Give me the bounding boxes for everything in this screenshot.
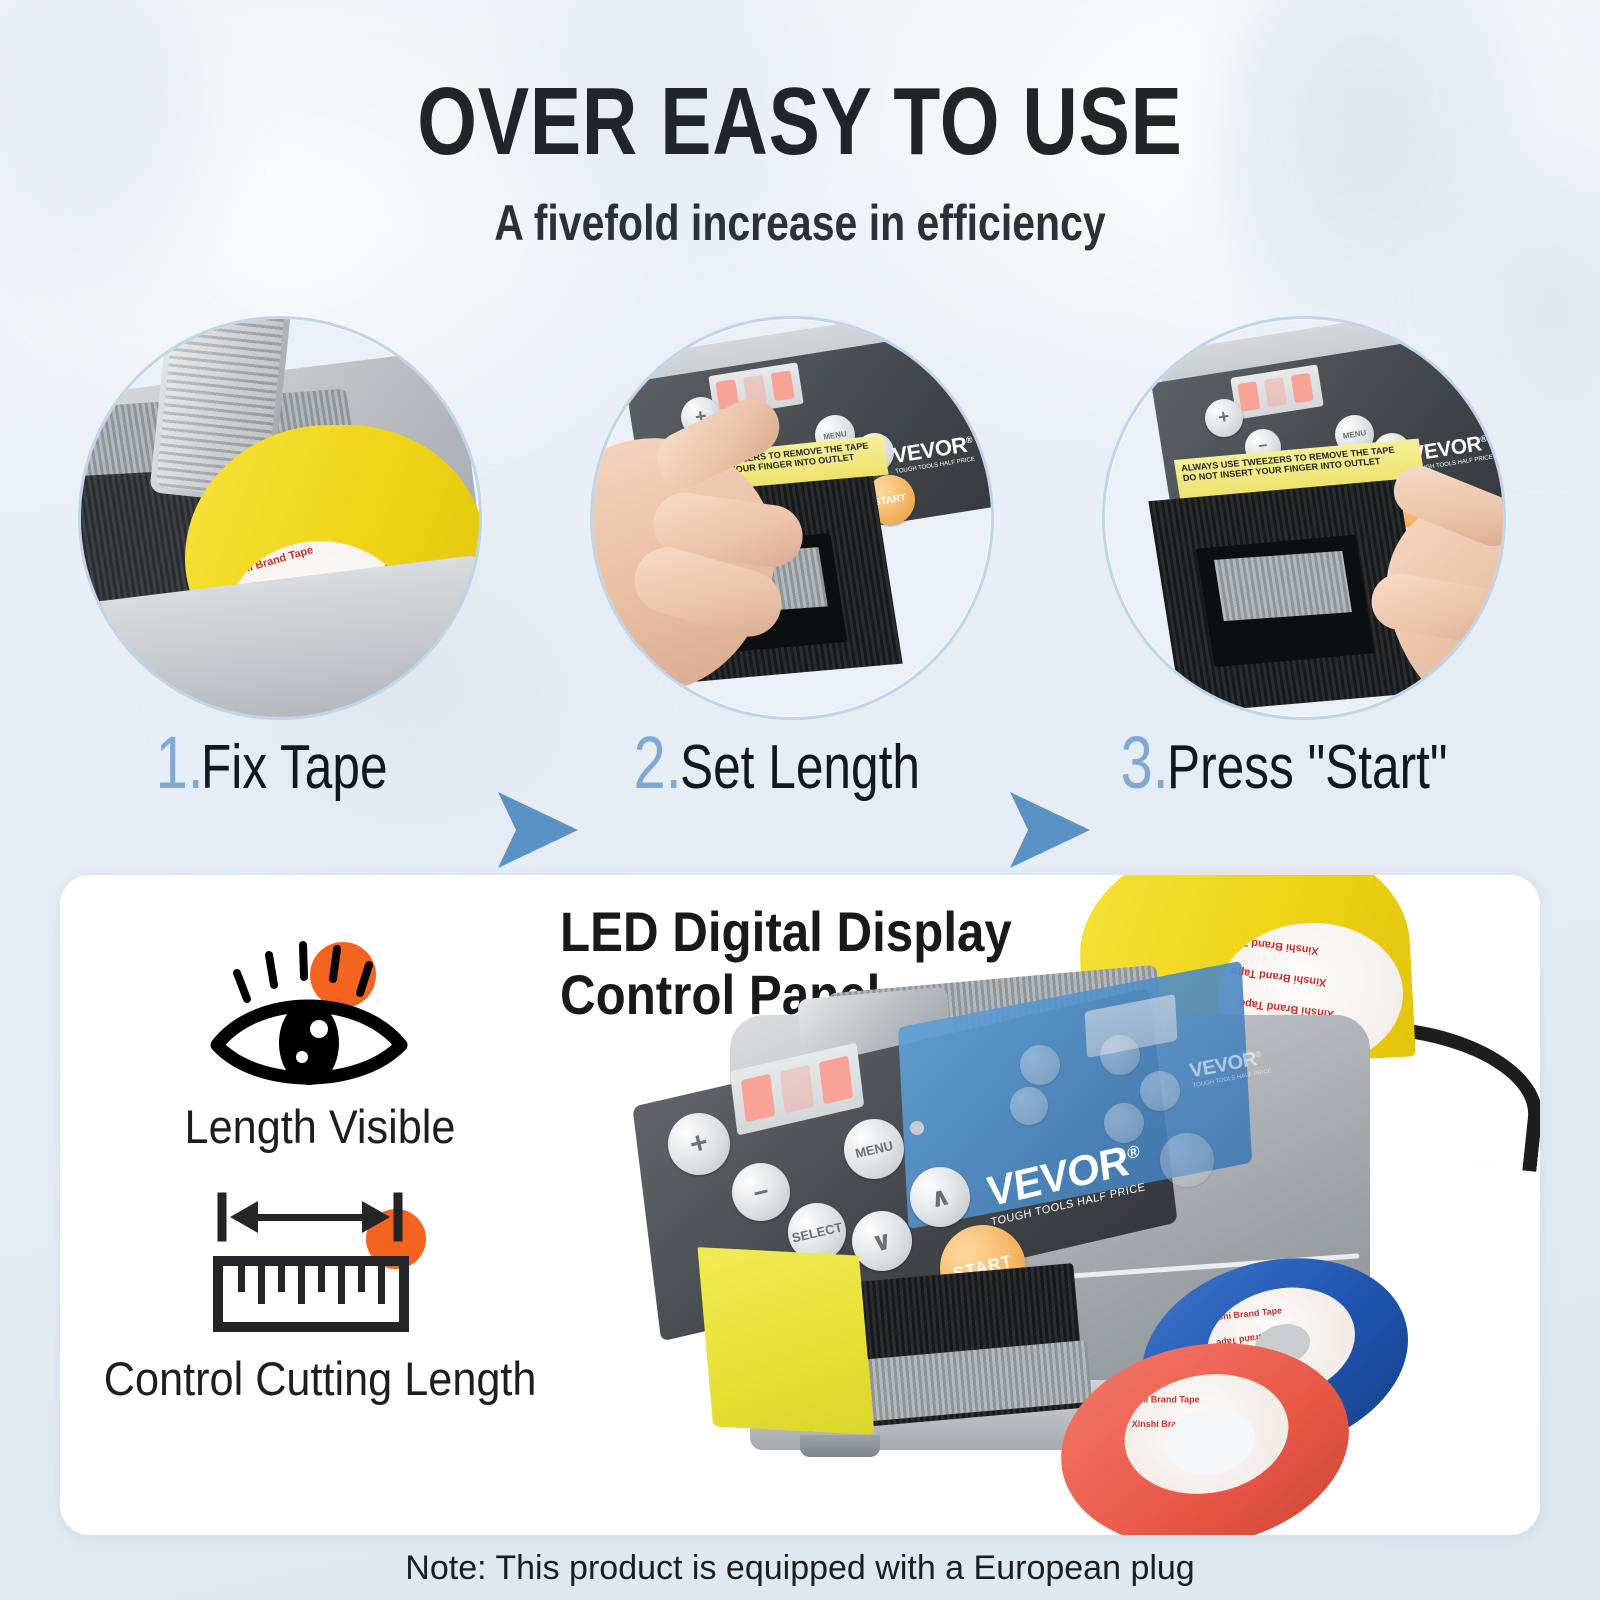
step-2-caption: 2.Set Length [590, 720, 1010, 805]
step-1-label: Fix Tape [201, 732, 388, 803]
product-photo: Xinshi Brand Tape Xinshi Brand Tape Xins… [500, 875, 1540, 1535]
step-3-caption: 3.Press "Start" [1102, 720, 1522, 805]
step-1-number: 1. [155, 720, 203, 805]
page-headline: OVER EASY TO USE [160, 74, 1440, 170]
step-1-photo: Xinshi Brand Tape Xinshi Brand Tape Xins… [81, 319, 479, 717]
feature-2-label: Control Cutting Length [104, 1351, 536, 1406]
background-ghost-figure [0, 0, 230, 340]
machine-foot [800, 1435, 880, 1457]
step-2-label: Set Length [680, 732, 920, 803]
step-3: + − SELECT MENU ∧ ∨ START VEVOR®TOUGH TO… [1102, 316, 1522, 720]
step-2-photo: + − SELECT MENU ∧ ∨ START VEVOR®TOUGH TO… [593, 319, 991, 717]
ruler-measure-icon [85, 1175, 555, 1345]
step-1-photo-circle: Xinshi Brand Tape Xinshi Brand Tape Xins… [78, 316, 482, 720]
feature-length-visible: Length Visible [85, 923, 555, 1154]
step-3-photo: + − SELECT MENU ∧ ∨ START VEVOR®TOUGH TO… [1105, 319, 1503, 717]
step-arrow-2-to-3 [1004, 782, 1096, 878]
feature-card: LED Digital Display Control Panel [60, 875, 1540, 1535]
step-3-number: 3. [1120, 720, 1168, 805]
step-3-label: Press "Start" [1167, 732, 1448, 803]
page-subheadline: A fivefold increase in efficiency [144, 198, 1456, 248]
feature-control-cutting-length: Control Cutting Length [85, 1175, 555, 1406]
step-2-photo-circle: + − SELECT MENU ∧ ∨ START VEVOR®TOUGH TO… [590, 316, 994, 720]
dispensed-tape-strip [697, 1247, 874, 1435]
step-1: Xinshi Brand Tape Xinshi Brand Tape Xins… [78, 316, 498, 720]
footer-note: Note: This product is equipped with a Eu… [0, 1536, 1600, 1600]
infographic-page: OVER EASY TO USE A fivefold increase in … [0, 0, 1600, 1600]
eye-icon [85, 923, 555, 1093]
step-2-number: 2. [634, 720, 682, 805]
steps-section: Xinshi Brand Tape Xinshi Brand Tape Xins… [0, 316, 1600, 816]
brand-registered-mark: ® [1126, 1142, 1140, 1164]
indicator-led [910, 1121, 924, 1135]
step-1-caption: 1.Fix Tape [78, 720, 498, 805]
step-arrow-1-to-2 [492, 782, 584, 878]
feature-1-label: Length Visible [104, 1099, 536, 1154]
background-ghost-figure [1210, 0, 1550, 370]
step-3-photo-circle: + − SELECT MENU ∧ ∨ START VEVOR®TOUGH TO… [1102, 316, 1506, 720]
step-2: + − SELECT MENU ∧ ∨ START VEVOR®TOUGH TO… [590, 316, 1010, 720]
